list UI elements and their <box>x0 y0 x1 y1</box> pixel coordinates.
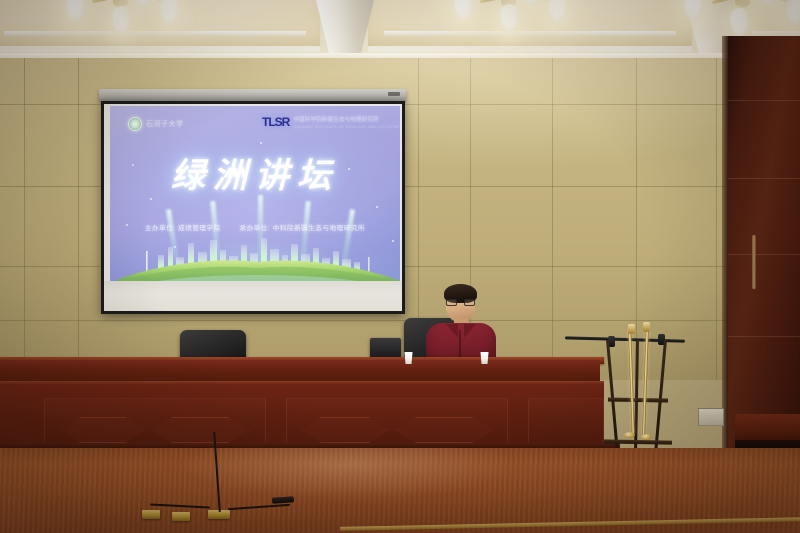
slide-subtitle: 主办单位: 成绩管理学院 承办单位: 中科院新疆生态与地理研究所 <box>110 222 400 232</box>
institute-name-en: XINJIANG INSTITUTE OF ECOLOGY AND GEOGRA… <box>293 124 400 129</box>
lecture-hall-photo: 石河子大学 TLSR 中国科学院新疆生态与地理研究所 XINJIANG INST… <box>0 0 800 533</box>
skyline-globe-graphic <box>110 235 400 287</box>
projection-screen: 石河子大学 TLSR 中国科学院新疆生态与地理研究所 XINJIANG INST… <box>101 101 405 314</box>
floor-plate-1 <box>142 510 160 519</box>
floor-plate-2 <box>172 512 190 521</box>
organizer-value: 中科院新疆生态与地理研究所 <box>273 225 365 232</box>
projected-slide: 石河子大学 TLSR 中国科学院新疆生态与地理研究所 XINJIANG INST… <box>110 106 400 287</box>
institute-mark: TLSR <box>262 115 289 129</box>
host-label: 主办单位: <box>145 225 176 232</box>
university-name: 石河子大学 <box>146 119 184 129</box>
institute-logo: TLSR 中国科学院新疆生态与地理研究所 XINJIANG INSTITUTE … <box>262 115 400 129</box>
eyeglasses-icon <box>446 299 475 306</box>
host-value: 成绩管理学院 <box>178 225 221 232</box>
institute-name-cn: 中国科学院新疆生态与地理研究所 <box>293 115 400 123</box>
mahogany-door[interactable] <box>728 36 800 448</box>
wall-outlet-box <box>698 408 724 426</box>
door-handle[interactable] <box>752 235 756 289</box>
screen-roller-knob[interactable] <box>388 92 400 96</box>
ceiling-coffer-center <box>368 0 692 52</box>
wood-floor <box>0 448 800 533</box>
screen-blank-area <box>104 281 402 311</box>
organizer-label: 承办单位: <box>240 225 271 232</box>
slide-title: 绿洲讲坛 <box>110 148 400 197</box>
university-seal-icon <box>128 117 142 131</box>
university-logo: 石河子大学 <box>128 117 184 131</box>
